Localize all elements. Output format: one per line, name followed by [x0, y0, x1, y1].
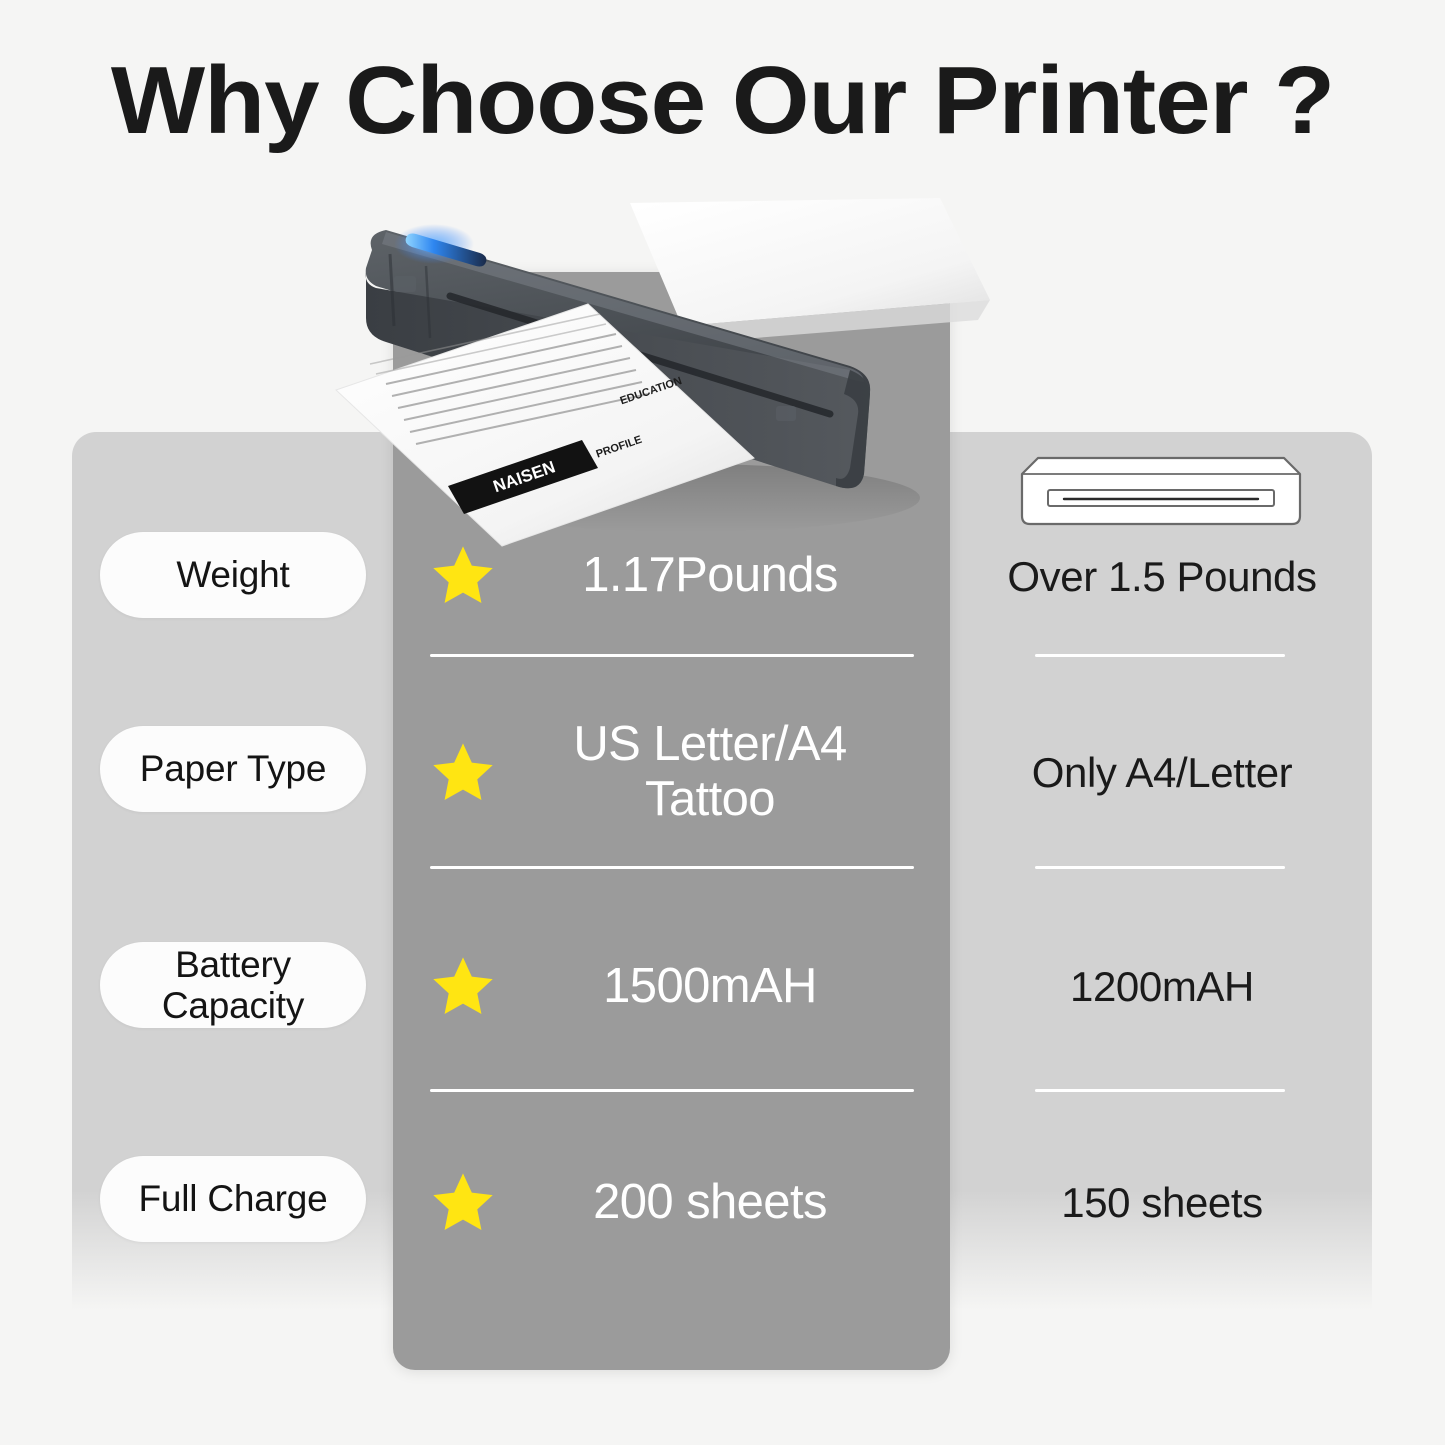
feature-pill-full-charge[interactable]: Full Charge: [100, 1156, 366, 1242]
row-divider: [430, 654, 914, 657]
star-icon: [430, 739, 496, 805]
our-value-row-paper-type: US Letter/A4 Tattoo: [430, 712, 914, 832]
feature-pill-battery-capacity[interactable]: Battery Capacity: [100, 942, 366, 1028]
competitor-value-row-weight: Over 1.5 Pounds: [1000, 522, 1324, 632]
competitor-value: 150 sheets: [1061, 1179, 1263, 1227]
product-photo-portable-printer: NAISEN PROFILE EDUCATION: [330, 168, 1030, 568]
competitor-value-row-paper-type: Only A4/Letter: [1000, 718, 1324, 828]
star-icon: [430, 953, 496, 1019]
our-value-row-full-charge: 200 sheets: [430, 1142, 914, 1262]
feature-label: Full Charge: [138, 1178, 327, 1219]
our-value: 200 sheets: [514, 1175, 914, 1230]
row-divider: [1035, 866, 1285, 869]
feature-pill-weight[interactable]: Weight: [100, 532, 366, 618]
feature-label: Paper Type: [140, 748, 327, 789]
feature-pill-paper-type[interactable]: Paper Type: [100, 726, 366, 812]
competitor-value: Only A4/Letter: [1032, 749, 1293, 797]
competitor-value-row-battery-capacity: 1200mAH: [1000, 932, 1324, 1042]
our-value: US Letter/A4 Tattoo: [514, 717, 914, 827]
our-value-row-battery-capacity: 1500mAH: [430, 926, 914, 1046]
feature-label: Battery Capacity: [100, 944, 366, 1027]
page-title: Why Choose Our Printer ?: [0, 46, 1445, 156]
row-divider: [430, 866, 914, 869]
competitor-value: 1200mAH: [1070, 963, 1254, 1011]
competitor-value-row-full-charge: 150 sheets: [1000, 1148, 1324, 1258]
generic-printer-outline-icon: [1008, 452, 1314, 530]
star-icon: [430, 1169, 496, 1235]
our-value: 1500mAH: [514, 959, 914, 1014]
row-divider: [1035, 1089, 1285, 1092]
row-divider: [1035, 654, 1285, 657]
row-divider: [430, 1089, 914, 1092]
feature-label: Weight: [176, 554, 289, 595]
competitor-value: Over 1.5 Pounds: [1007, 553, 1316, 601]
